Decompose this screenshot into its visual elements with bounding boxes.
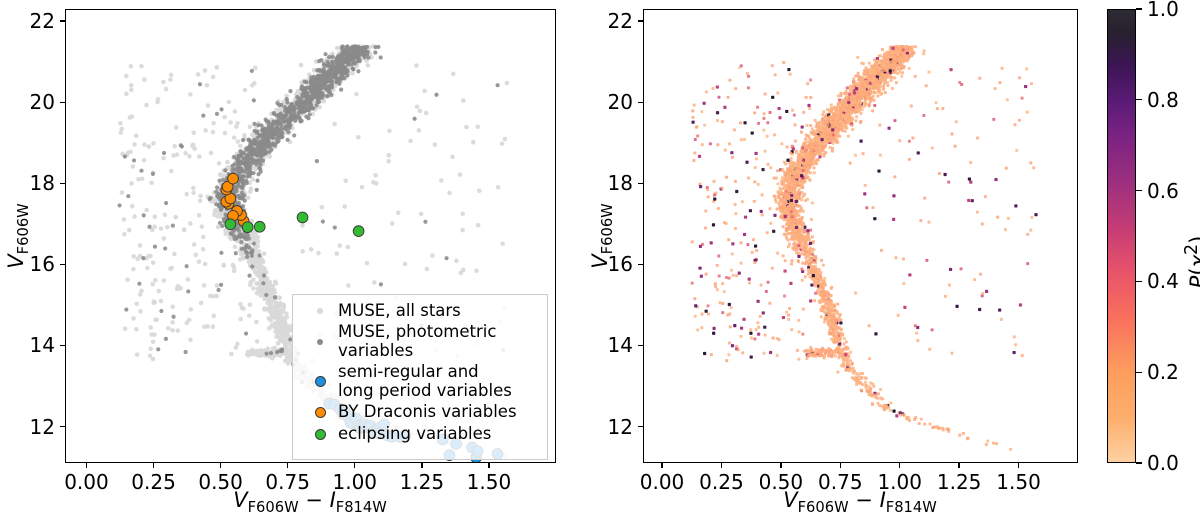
colorbar-ticklabel: 0.8 [1147,88,1179,112]
right-panel-xtick [780,463,781,468]
colorbar-ticklabel: 0.4 [1147,269,1179,293]
left-panel-xticklabel: 0.00 [64,470,109,494]
colorbar-ticklabel: 0.0 [1147,451,1179,475]
ylabel-right-vsub: F606W [599,203,616,254]
colorbar-tick [1136,99,1142,100]
ylabel-right-v: V [588,254,612,268]
colorbar-ticklabel: 0.2 [1147,360,1179,384]
orange-dot-icon [302,407,338,418]
right-panel-xtick [661,463,662,468]
legend: MUSE, all starsMUSE, photometricvariable… [292,294,548,460]
right-panel-xtick [899,463,900,468]
xlabel-right-v: V [783,488,797,512]
left-panel-xtick [287,463,288,468]
xlabel-right-minus: − [849,488,880,512]
xlabel-left-minus: − [299,488,330,512]
right-pchi2-coloured-series [691,45,1038,451]
right-panel-yticklabel: 20 [577,90,633,114]
left-panel-ytick [60,20,65,21]
right-panel-xtick [958,463,959,468]
left-panel-yticklabel: 20 [0,90,55,114]
right-panel-xticklabel: 1.50 [996,470,1041,494]
small-gray-dot-icon [302,308,338,314]
right-panel-ytick [638,345,643,346]
figure-canvas: 0.000.250.500.751.001.251.50121416182022… [0,0,1200,524]
right-panel-xticklabel: 1.25 [937,470,982,494]
left-panel-xtick [86,463,87,468]
right-panel-yticklabel: 18 [577,171,633,195]
xlabel-left-vsub: F606W [248,499,299,516]
colorbar-tick [1136,372,1142,373]
left-panel-xticklabel: 0.25 [131,470,176,494]
legend-item-label: eclipsing variables [338,425,491,443]
colorbar-title: P(χ2) [1182,236,1200,289]
legend-item-4[interactable]: eclipsing variables [302,425,538,443]
left-panel-xticklabel: 1.50 [467,470,512,494]
legend-marker-swatch [315,407,326,418]
left-panel-xticklabel: 1.25 [400,470,445,494]
colorbar-ticklabel: 1.0 [1147,0,1179,21]
left-panel-ytick [60,183,65,184]
right-panel-ylabel: VF606W [588,203,616,268]
right-panel-xticklabel: 0.25 [699,470,744,494]
left-panel-ytick [60,264,65,265]
left-panel-xlabel: VF606W − IF814W [233,488,387,516]
legend-item-label: semi-regular andlong period variables [338,363,512,400]
xlabel-left-v: V [233,488,247,512]
legend-item-2[interactable]: semi-regular andlong period variables [302,363,538,400]
right-panel-axes [643,9,1078,463]
xlabel-right-vsub: F606W [798,499,849,516]
colorbar-tick [1136,8,1142,9]
left-panel-yticklabel: 12 [0,415,55,439]
legend-item-label: BY Draconis variables [338,403,517,421]
left-panel-yticklabel: 14 [0,333,55,357]
small-darkgray-dot-icon [302,339,338,345]
left-panel-yticklabel: 22 [0,9,55,33]
right-panel-yticklabel: 22 [577,9,633,33]
green-dot-icon [302,429,338,440]
left-panel-yticklabel: 18 [0,171,55,195]
legend-item-1[interactable]: MUSE, photometricvariables [302,323,538,360]
legend-item-3[interactable]: BY Draconis variables [302,403,538,421]
legend-marker-swatch [317,339,323,345]
right-panel-xtick [721,463,722,468]
right-panel-xticklabel: 0.00 [640,470,685,494]
right-panel-xtick [840,463,841,468]
colorbar-tick [1136,190,1142,191]
left-panel-ytick [60,426,65,427]
right-panel-ytick [638,426,643,427]
right-panel-ytick [638,20,643,21]
right-panel-yticklabel: 14 [577,333,633,357]
colorbar-tick [1136,462,1142,463]
xlabel-left-isub: F814W [336,499,387,516]
ylabel-left-v: V [4,254,28,268]
left-panel-xtick [220,463,221,468]
blue-dot-icon [302,376,338,387]
legend-marker-swatch [315,429,326,440]
legend-item-0[interactable]: MUSE, all stars [302,302,538,320]
right-panel-xlabel: VF606W − IF814W [783,488,937,516]
right-panel-scatter-canvas [644,10,1077,462]
legend-marker-swatch [317,308,323,314]
left-panel-xtick [354,463,355,468]
right-panel-ytick [638,183,643,184]
left-panel-xtick [153,463,154,468]
right-panel-xtick [1018,463,1019,468]
colorbar-ticklabel: 0.6 [1147,179,1179,203]
left-panel-xtick [421,463,422,468]
legend-item-label: MUSE, all stars [338,302,461,320]
ylabel-left-vsub: F606W [15,203,32,254]
legend-marker-swatch [315,376,326,387]
xlabel-right-isub: F814W [886,499,937,516]
left-panel-xtick [488,463,489,468]
left-panel-ytick [60,102,65,103]
right-panel-ytick [638,102,643,103]
colorbar [1107,9,1136,463]
left-panel-ylabel: VF606W [4,203,32,268]
colorbar-tick [1136,281,1142,282]
right-panel-ytick [638,264,643,265]
legend-item-label: MUSE, photometricvariables [338,323,496,360]
right-panel-yticklabel: 12 [577,415,633,439]
left-panel-ytick [60,345,65,346]
